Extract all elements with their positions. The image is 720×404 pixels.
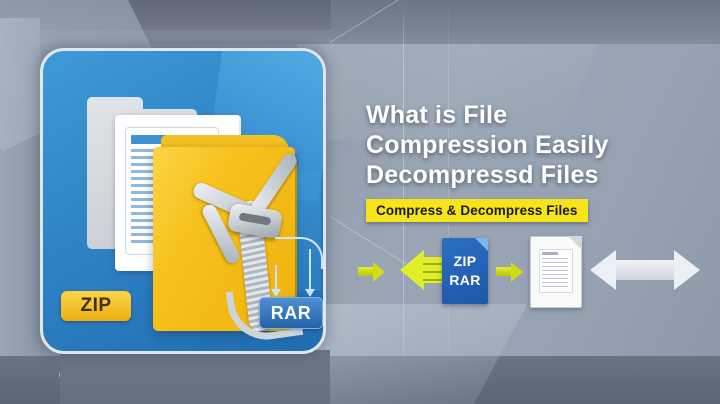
headline-line-3: Decompressd Files	[366, 160, 686, 190]
zip-rar-file-fold	[475, 238, 488, 251]
document-file-header-bar	[542, 252, 558, 255]
thumbnail-canvas: ZIP RAR What is File Compression Easily …	[0, 0, 720, 404]
document-file-icon	[530, 236, 582, 308]
background-chevron-cover	[60, 350, 330, 404]
page-title: What is File Compression Easily Decompre…	[366, 100, 686, 190]
rar-arrow-head-2-icon	[305, 289, 315, 297]
headline-line-1: What is File	[366, 100, 686, 130]
rar-arrow-line-1	[275, 265, 277, 291]
rar-arrow-head-1-icon	[271, 289, 281, 297]
rar-badge: RAR	[259, 297, 323, 329]
zip-rar-file-icon: ZIP RAR	[442, 238, 488, 304]
headline-line-2: Compression Easily	[366, 130, 686, 160]
zip-rar-line-1: ZIP	[454, 252, 477, 271]
document-file-fold	[568, 236, 582, 250]
rar-connector-curve	[275, 237, 323, 269]
subtitle-badge: Compress & Decompress Files	[366, 199, 588, 222]
document-file-text-lines	[542, 258, 568, 288]
rar-arrow-line-2	[309, 249, 311, 291]
double-arrow-icon	[590, 250, 700, 290]
zip-rar-line-2: RAR	[449, 271, 480, 290]
compression-flow-row: ZIP RAR	[358, 236, 706, 310]
illustration-card: ZIP RAR	[40, 48, 326, 354]
zip-badge: ZIP	[61, 291, 131, 321]
